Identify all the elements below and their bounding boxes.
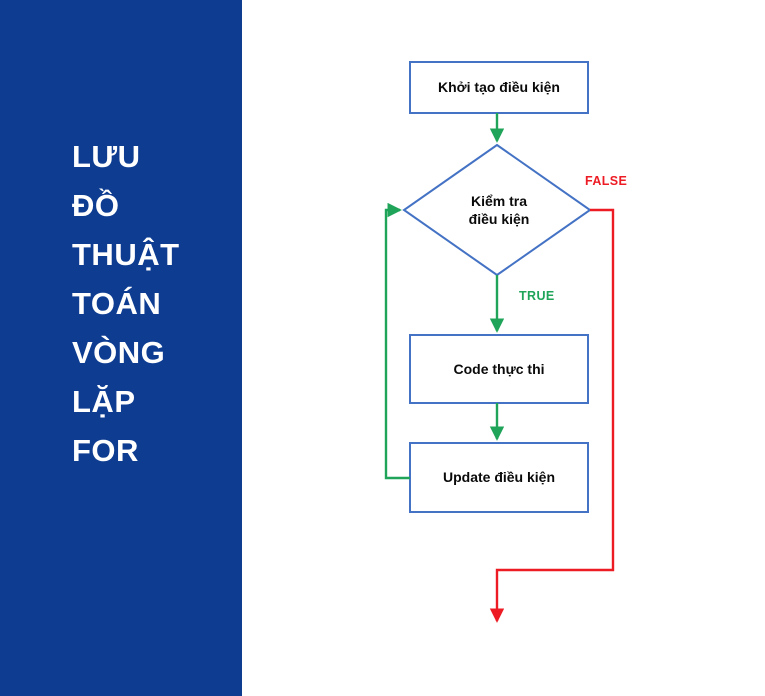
node-init-label: Khởi tạo điều kiện [410, 78, 588, 96]
flowchart-graphics [242, 0, 765, 696]
node-update-label: Update điều kiện [410, 468, 588, 486]
edge-true-label: TRUE [519, 289, 555, 303]
title-line-4: TOÁN [72, 279, 237, 328]
title-panel: LƯU ĐỒ THUẬT TOÁN VÒNG LẶP FOR [0, 0, 242, 696]
title-line-1: LƯU [72, 132, 237, 181]
title-line-6: LẶP [72, 377, 237, 426]
edge-check-false-exit [497, 210, 613, 621]
title-block: LƯU ĐỒ THUẬT TOÁN VÒNG LẶP FOR [72, 132, 237, 475]
node-code-label: Code thực thi [410, 360, 588, 378]
title-line-5: VÒNG [72, 328, 237, 377]
title-line-3: THUẬT [72, 230, 237, 279]
flowchart-canvas: Khởi tạo điều kiện Kiểm tra điều kiện Co… [242, 0, 765, 696]
flowchart-page: LƯU ĐỒ THUẬT TOÁN VÒNG LẶP FOR [0, 0, 765, 696]
edge-update-loop-back-to-check [386, 210, 410, 478]
title-line-7: FOR [72, 426, 237, 475]
node-check-label: Kiểm tra điều kiện [410, 192, 588, 228]
edge-false-label: FALSE [585, 174, 627, 188]
title-line-2: ĐỒ [72, 181, 237, 230]
